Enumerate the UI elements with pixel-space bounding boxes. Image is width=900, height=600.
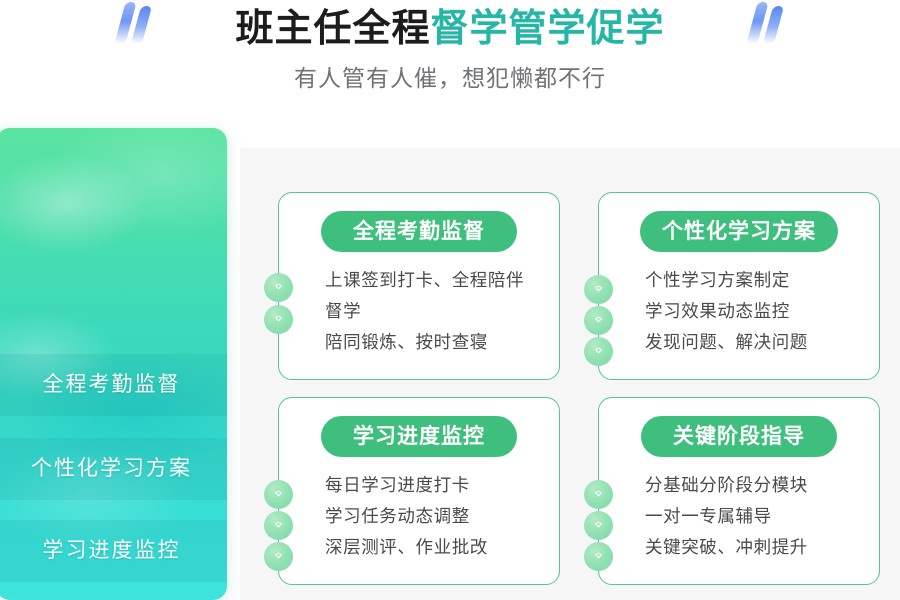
chevron-down-icon: [264, 273, 293, 302]
card-title-pill: 全程考勤监督: [321, 211, 517, 252]
sidebar-item-label: 学习进度监控: [43, 537, 181, 565]
page-title-accent: 督学管学促学: [431, 4, 665, 54]
chevron-down-icon: [584, 337, 613, 366]
card-line: 深层测评、作业批改: [325, 532, 549, 563]
chevron-down-icon: [264, 480, 293, 509]
card-line: 个性学习方案制定: [645, 265, 869, 296]
card-line: 每日学习进度打卡: [325, 470, 549, 501]
feature-card-progress-monitor[interactable]: 学习进度监控 每日学习进度打卡 学习任务动态调整 深层测评、作业批改: [278, 397, 560, 585]
card-line: 一对一专属辅导: [645, 501, 869, 532]
card-line: 督学: [325, 296, 549, 327]
chevron-down-icon: [584, 275, 613, 304]
card-line: 陪同锻炼、按时查寝: [325, 327, 549, 358]
card-title-label: 学习进度监控: [353, 424, 485, 450]
sidebar-item-attendance[interactable]: 全程考勤监督: [0, 354, 227, 416]
feature-card-personalized-plan[interactable]: 个性化学习方案 个性学习方案制定 学习效果动态监控 发现问题、解决问题: [598, 192, 880, 380]
card-body: 每日学习进度打卡 学习任务动态调整 深层测评、作业批改: [325, 470, 549, 563]
card-body: 上课签到打卡、全程陪伴 督学 陪同锻炼、按时查寝: [325, 265, 549, 358]
card-body: 个性学习方案制定 学习效果动态监控 发现问题、解决问题: [645, 265, 869, 358]
feature-card-key-stage-guidance[interactable]: 关键阶段指导 分基础分阶段分模块 一对一专属辅导 关键突破、冲刺提升: [598, 397, 880, 585]
card-line: 关键突破、冲刺提升: [645, 532, 869, 563]
card-line: 学习效果动态监控: [645, 296, 869, 327]
chevron-down-icon: [264, 511, 293, 540]
card-title-pill: 学习进度监控: [321, 416, 517, 457]
card-title-label: 全程考勤监督: [353, 219, 485, 245]
sidebar-item-label: 全程考勤监督: [43, 371, 181, 399]
chevron-down-icon: [264, 305, 293, 334]
card-title-label: 个性化学习方案: [662, 219, 816, 245]
card-body: 分基础分阶段分模块 一对一专属辅导 关键突破、冲刺提升: [645, 470, 869, 563]
feature-card-attendance[interactable]: 全程考勤监督 上课签到打卡、全程陪伴 督学 陪同锻炼、按时查寝: [278, 192, 560, 380]
sidebar: 全程考勤监督 个性化学习方案 学习进度监控 关键阶段指导: [0, 128, 227, 600]
chevron-down-icon: [584, 542, 613, 571]
card-line: 发现问题、解决问题: [645, 327, 869, 358]
feature-card-grid: 全程考勤监督 上课签到打卡、全程陪伴 督学 陪同锻炼、按时查寝 个性化学习方案 …: [278, 192, 900, 600]
card-title-label: 关键阶段指导: [673, 424, 805, 450]
card-line: 上课签到打卡、全程陪伴: [325, 265, 549, 296]
card-line: 学习任务动态调整: [325, 501, 549, 532]
page-subtitle: 有人管有人催，想犯懒都不行: [0, 62, 900, 94]
chevron-down-icon: [584, 480, 613, 509]
sidebar-item-progress-monitor[interactable]: 学习进度监控: [0, 520, 227, 582]
chevron-down-icon: [584, 306, 613, 335]
sidebar-item-label: 个性化学习方案: [31, 455, 192, 483]
card-title-pill: 个性化学习方案: [640, 211, 838, 252]
sidebar-item-personalized-plan[interactable]: 个性化学习方案: [0, 438, 227, 500]
card-line: 分基础分阶段分模块: [645, 470, 869, 501]
chevron-down-icon: [264, 542, 293, 571]
card-title-pill: 关键阶段指导: [641, 416, 837, 457]
page-header: 班主任全程督学管学促学 有人管有人催，想犯懒都不行: [0, 0, 900, 118]
page-title: 班主任全程督学管学促学: [0, 4, 900, 54]
chevron-down-icon: [584, 511, 613, 540]
page-title-primary: 班主任全程: [235, 4, 430, 54]
